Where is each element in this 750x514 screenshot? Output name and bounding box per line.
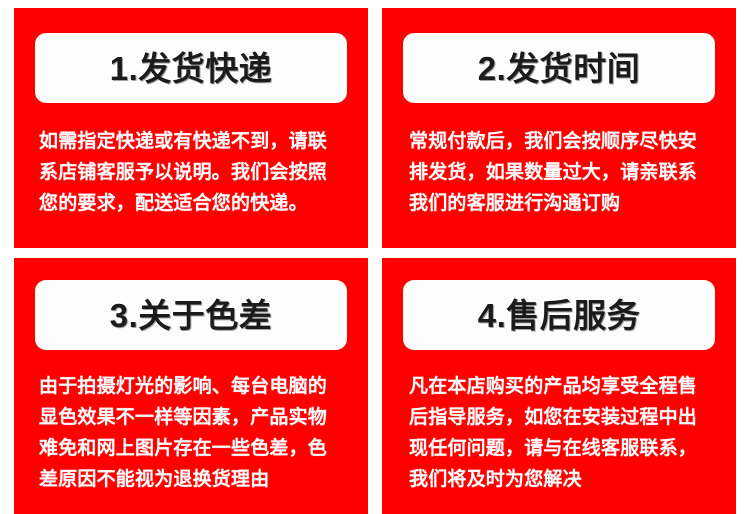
- panel-shipping-courier: 1.发货快递 如需指定快递或有快递不到，请联系店铺客服予以说明。我们会按照您的要…: [14, 8, 368, 248]
- panel-title: 4.售后服务: [478, 299, 641, 332]
- panel-shipping-time: 2.发货时间 常规付款后，我们会按顺序尽快安排发货，如果数量过大，请亲联系我们的…: [382, 8, 736, 248]
- panel-title-box: 1.发货快递: [35, 33, 347, 103]
- info-panels-grid: 1.发货快递 如需指定快递或有快递不到，请联系店铺客服予以说明。我们会按照您的要…: [0, 0, 750, 504]
- panel-title-box: 2.发货时间: [403, 33, 715, 103]
- panel-title: 1.发货快递: [110, 52, 273, 85]
- panel-title: 2.发货时间: [478, 52, 641, 85]
- panel-body-text: 由于拍摄灯光的影响、每台电脑的显色效果不一样等因素，产品实物难免和网上图片存在一…: [39, 371, 343, 495]
- panel-body-text: 如需指定快递或有快递不到，请联系店铺客服予以说明。我们会按照您的要求，配送适合您…: [39, 126, 343, 219]
- panel-title-box: 3.关于色差: [35, 280, 347, 350]
- panel-title: 3.关于色差: [110, 299, 273, 332]
- panel-after-sales-service: 4.售后服务 凡在本店购买的产品均享受全程售后指导服务，如您在安装过程中出现任何…: [382, 258, 736, 514]
- panel-color-difference: 3.关于色差 由于拍摄灯光的影响、每台电脑的显色效果不一样等因素，产品实物难免和…: [14, 258, 368, 514]
- panel-title-box: 4.售后服务: [403, 280, 715, 350]
- panel-body-text: 凡在本店购买的产品均享受全程售后指导服务，如您在安装过程中出现任何问题，请与在线…: [409, 371, 709, 495]
- panel-body-text: 常规付款后，我们会按顺序尽快安排发货，如果数量过大，请亲联系我们的客服进行沟通订…: [409, 126, 709, 219]
